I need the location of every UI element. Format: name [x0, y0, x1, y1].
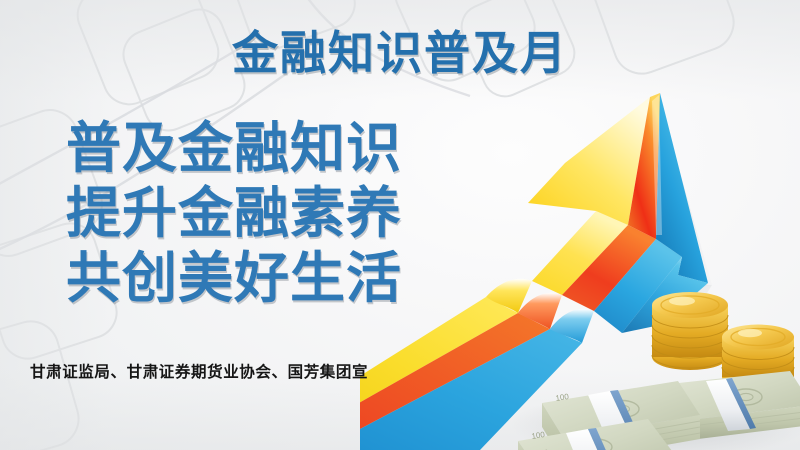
coin-stack-tall — [652, 292, 728, 370]
headline-line-1: 普及金融知识 — [66, 118, 466, 178]
poster-headline-block: 普及金融知识 提升金融素养 共创美好生活 — [66, 118, 466, 313]
headline-line-2: 提升金融素养 — [66, 183, 466, 243]
poster-title: 金融知识普及月 — [0, 30, 800, 76]
headline-line-3: 共创美好生活 — [66, 248, 466, 308]
poster-canvas: 100 100 100 — [0, 0, 800, 450]
poster-footer-credits: 甘肃证监局、甘肃证券期货业协会、国芳集团宣 — [30, 360, 368, 382]
